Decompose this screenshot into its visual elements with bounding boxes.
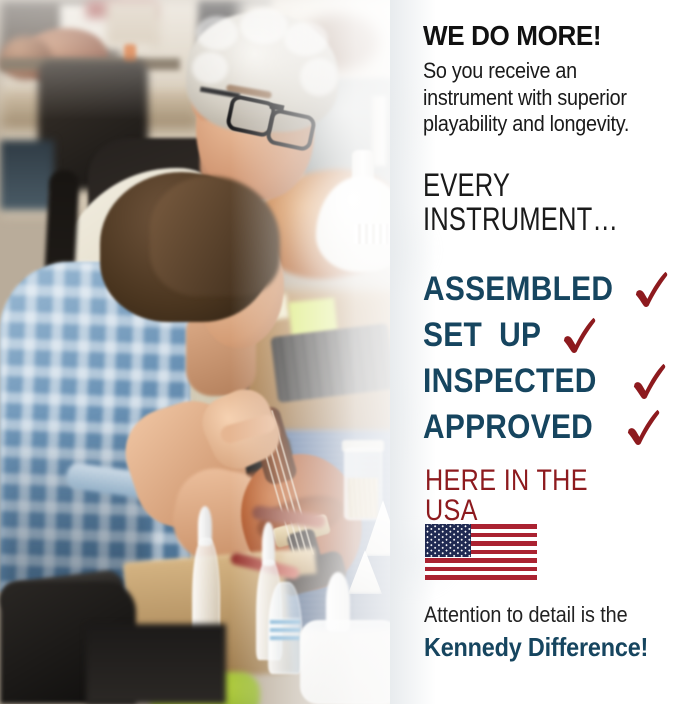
checklist-item-label: ASSEMBLED	[423, 272, 613, 306]
check-mark-icon	[631, 362, 667, 400]
check-mark-icon	[561, 316, 597, 354]
quality-checklist: ASSEMBLED SET UP	[423, 272, 679, 456]
checklist-item: ASSEMBLED	[423, 272, 679, 318]
message-panel: WE DO MORE! So you receive an instrument…	[390, 0, 679, 704]
photo-apprentice-trousers	[86, 624, 226, 704]
checklist-item: INSPECTED	[423, 364, 679, 410]
checklist-item: APPROVED	[423, 410, 679, 456]
checklist-item-label: SET UP	[423, 318, 541, 352]
panel-text-content: WE DO MORE! So you receive an instrument…	[423, 0, 679, 704]
check-mark-icon	[633, 270, 669, 308]
checklist-item-label: APPROVED	[423, 410, 593, 444]
headline: WE DO MORE!	[423, 22, 601, 50]
flag-canton-stars-offset	[425, 524, 471, 557]
here-in-the-usa-text: HERE IN THE USA	[425, 466, 638, 526]
subheadline: So you receive an instrument with superi…	[423, 58, 659, 138]
usa-flag-icon	[425, 524, 537, 584]
footer-line-1: Attention to detail is the	[424, 604, 627, 626]
every-instrument-heading: EVERY INSTRUMENT…	[423, 168, 618, 236]
photo-left-panel	[0, 140, 54, 210]
checklist-item: SET UP	[423, 318, 679, 364]
workshop-photo	[0, 0, 420, 704]
advertisement-banner: WE DO MORE! So you receive an instrument…	[0, 0, 679, 704]
footer-line-2: Kennedy Difference!	[424, 634, 648, 660]
check-mark-icon	[625, 408, 661, 446]
flag-stripe-red	[425, 575, 537, 580]
checklist-item-label: INSPECTED	[423, 364, 597, 398]
flag-canton-stars	[425, 524, 471, 557]
